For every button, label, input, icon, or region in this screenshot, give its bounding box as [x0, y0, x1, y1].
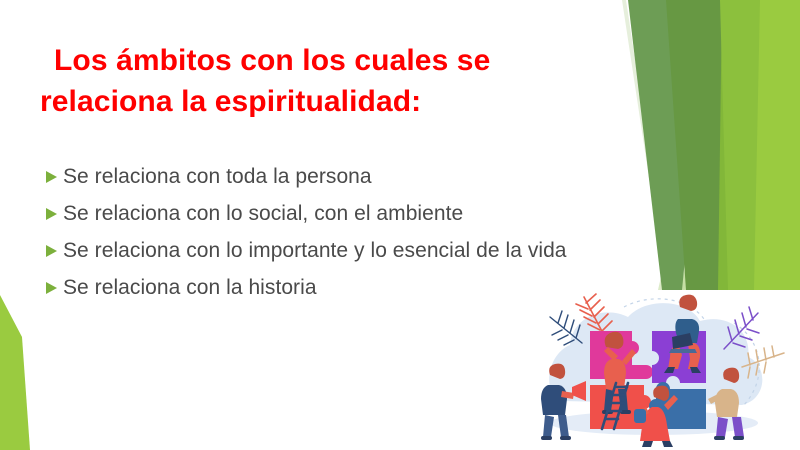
list-item: Se relaciona con toda la persona: [46, 163, 626, 191]
person-with-megaphone: [541, 364, 586, 440]
puzzle-piece-bottom-left: [590, 385, 651, 429]
bullet-list: Se relaciona con toda la persona Se rela…: [46, 163, 626, 311]
person-with-laptop: [664, 295, 701, 373]
slide-title-line-2: relaciona la espiritualidad:: [40, 81, 580, 122]
person-right: [708, 368, 744, 440]
person-on-ladder: [602, 332, 636, 414]
list-item-label: Se relaciona con lo social, con el ambie…: [63, 200, 626, 228]
list-item-label: Se relaciona con lo importante y lo esen…: [63, 237, 626, 265]
fern-tan-icon: [742, 346, 784, 378]
triangle-bullet-icon: [46, 208, 57, 220]
list-item: Se relaciona con la historia: [46, 274, 626, 302]
list-item-label: Se relaciona con toda la persona: [63, 163, 626, 191]
triangle-bullet-icon: [46, 171, 57, 183]
ladder-icon: [602, 383, 628, 429]
person-red-dress: [634, 386, 678, 447]
list-item: Se relaciona con lo importante y lo esen…: [46, 237, 626, 265]
puzzle-piece-top-right: [652, 331, 706, 383]
slide-title: Los ámbitos con los cuales se relaciona …: [40, 40, 580, 123]
triangle-bullet-icon: [46, 282, 57, 294]
list-item: Se relaciona con lo social, con el ambie…: [46, 200, 626, 228]
puzzle-piece-top-left: [590, 331, 653, 379]
list-item-label: Se relaciona con la historia: [63, 274, 626, 302]
green-decoration-bottom-left: [0, 295, 60, 450]
puzzle-piece-bottom-right: [649, 382, 706, 429]
presentation-slide: Los ámbitos con los cuales se relaciona …: [0, 0, 800, 450]
fern-navy-icon: [550, 311, 582, 345]
slide-title-line-1: Los ámbitos con los cuales se: [40, 40, 580, 81]
triangle-bullet-icon: [46, 245, 57, 257]
fern-purple-icon: [724, 307, 759, 349]
